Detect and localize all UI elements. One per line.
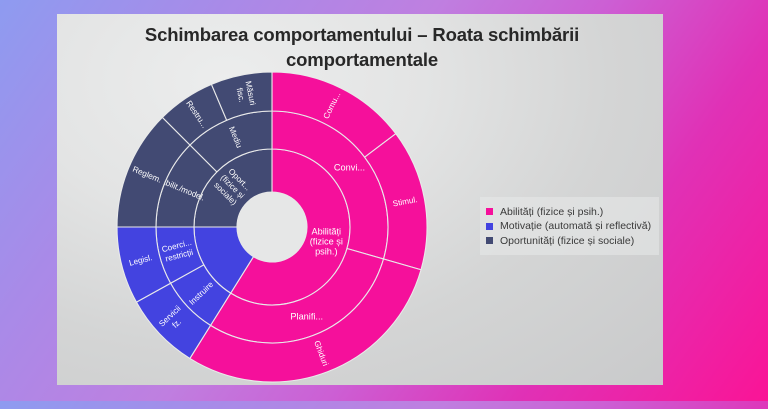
legend-item[interactable]: Oportunități (fizice și sociale) xyxy=(486,235,651,247)
sunburst-center-hole xyxy=(237,192,307,262)
legend-item-label: Oportunități (fizice și sociale) xyxy=(500,235,634,247)
sunburst-svg: Abilități(fizice șipsih.)Convi...Comu...… xyxy=(57,54,487,404)
chart-legend: Abilități (fizice și psih.)Motivație (au… xyxy=(480,197,659,255)
segment-label: Planifi... xyxy=(290,312,323,322)
slide-canvas: Schimbarea comportamentului – Roata schi… xyxy=(0,0,768,401)
chart-panel: Schimbarea comportamentului – Roata schi… xyxy=(57,14,663,385)
legend-item[interactable]: Motivație (automată și reflectivă) xyxy=(486,220,651,232)
legend-swatch-icon xyxy=(486,237,493,244)
sunburst-chart: Abilități(fizice șipsih.)Convi...Comu...… xyxy=(57,54,487,404)
segment-label: Convi... xyxy=(334,163,365,173)
legend-item-label: Abilități (fizice și psih.) xyxy=(500,206,603,218)
legend-item[interactable]: Abilități (fizice și psih.) xyxy=(486,206,651,218)
legend-item-label: Motivație (automată și reflectivă) xyxy=(500,220,651,232)
legend-swatch-icon xyxy=(486,223,493,230)
legend-swatch-icon xyxy=(486,208,493,215)
